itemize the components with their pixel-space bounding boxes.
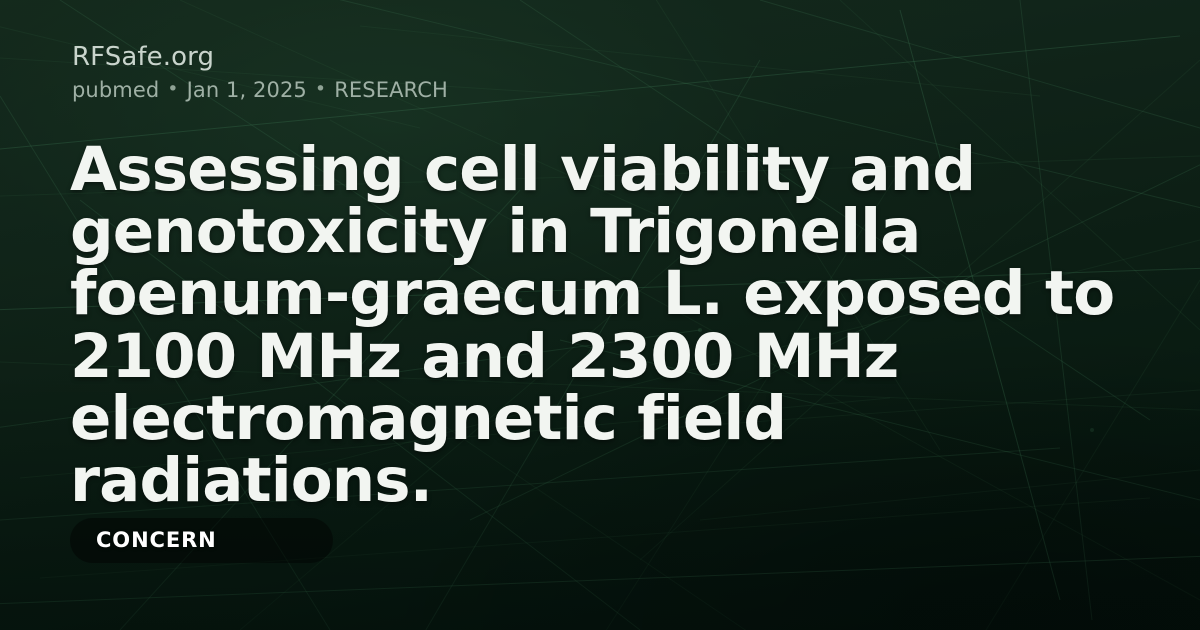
badge-row: CONCERN <box>70 518 333 563</box>
title-line: Assessing cell viability and <box>70 139 1130 201</box>
title-line: genotoxicity in Trigonella <box>70 201 1130 263</box>
meta-separator-1: • <box>167 80 178 99</box>
status-badge: CONCERN <box>70 518 333 563</box>
meta-separator-2: • <box>315 80 326 99</box>
meta-category: RESEARCH <box>334 80 448 101</box>
title-line: radiations. <box>70 450 1130 512</box>
title-line: electromagnetic field <box>70 388 1130 450</box>
og-research-card: RFSafe.org pubmed • Jan 1, 2025 • RESEAR… <box>0 0 1200 630</box>
title-line: 2100 MHz and 2300 MHz <box>70 326 1130 388</box>
meta-database: pubmed <box>72 80 159 101</box>
source-site-name: RFSafe.org <box>72 44 1130 70</box>
meta-line: pubmed • Jan 1, 2025 • RESEARCH <box>72 80 1130 101</box>
title-line: foenum-graecum L. exposed to <box>70 263 1130 325</box>
page-title: Assessing cell viability and genotoxicit… <box>70 139 1130 512</box>
meta-date: Jan 1, 2025 <box>187 80 307 101</box>
